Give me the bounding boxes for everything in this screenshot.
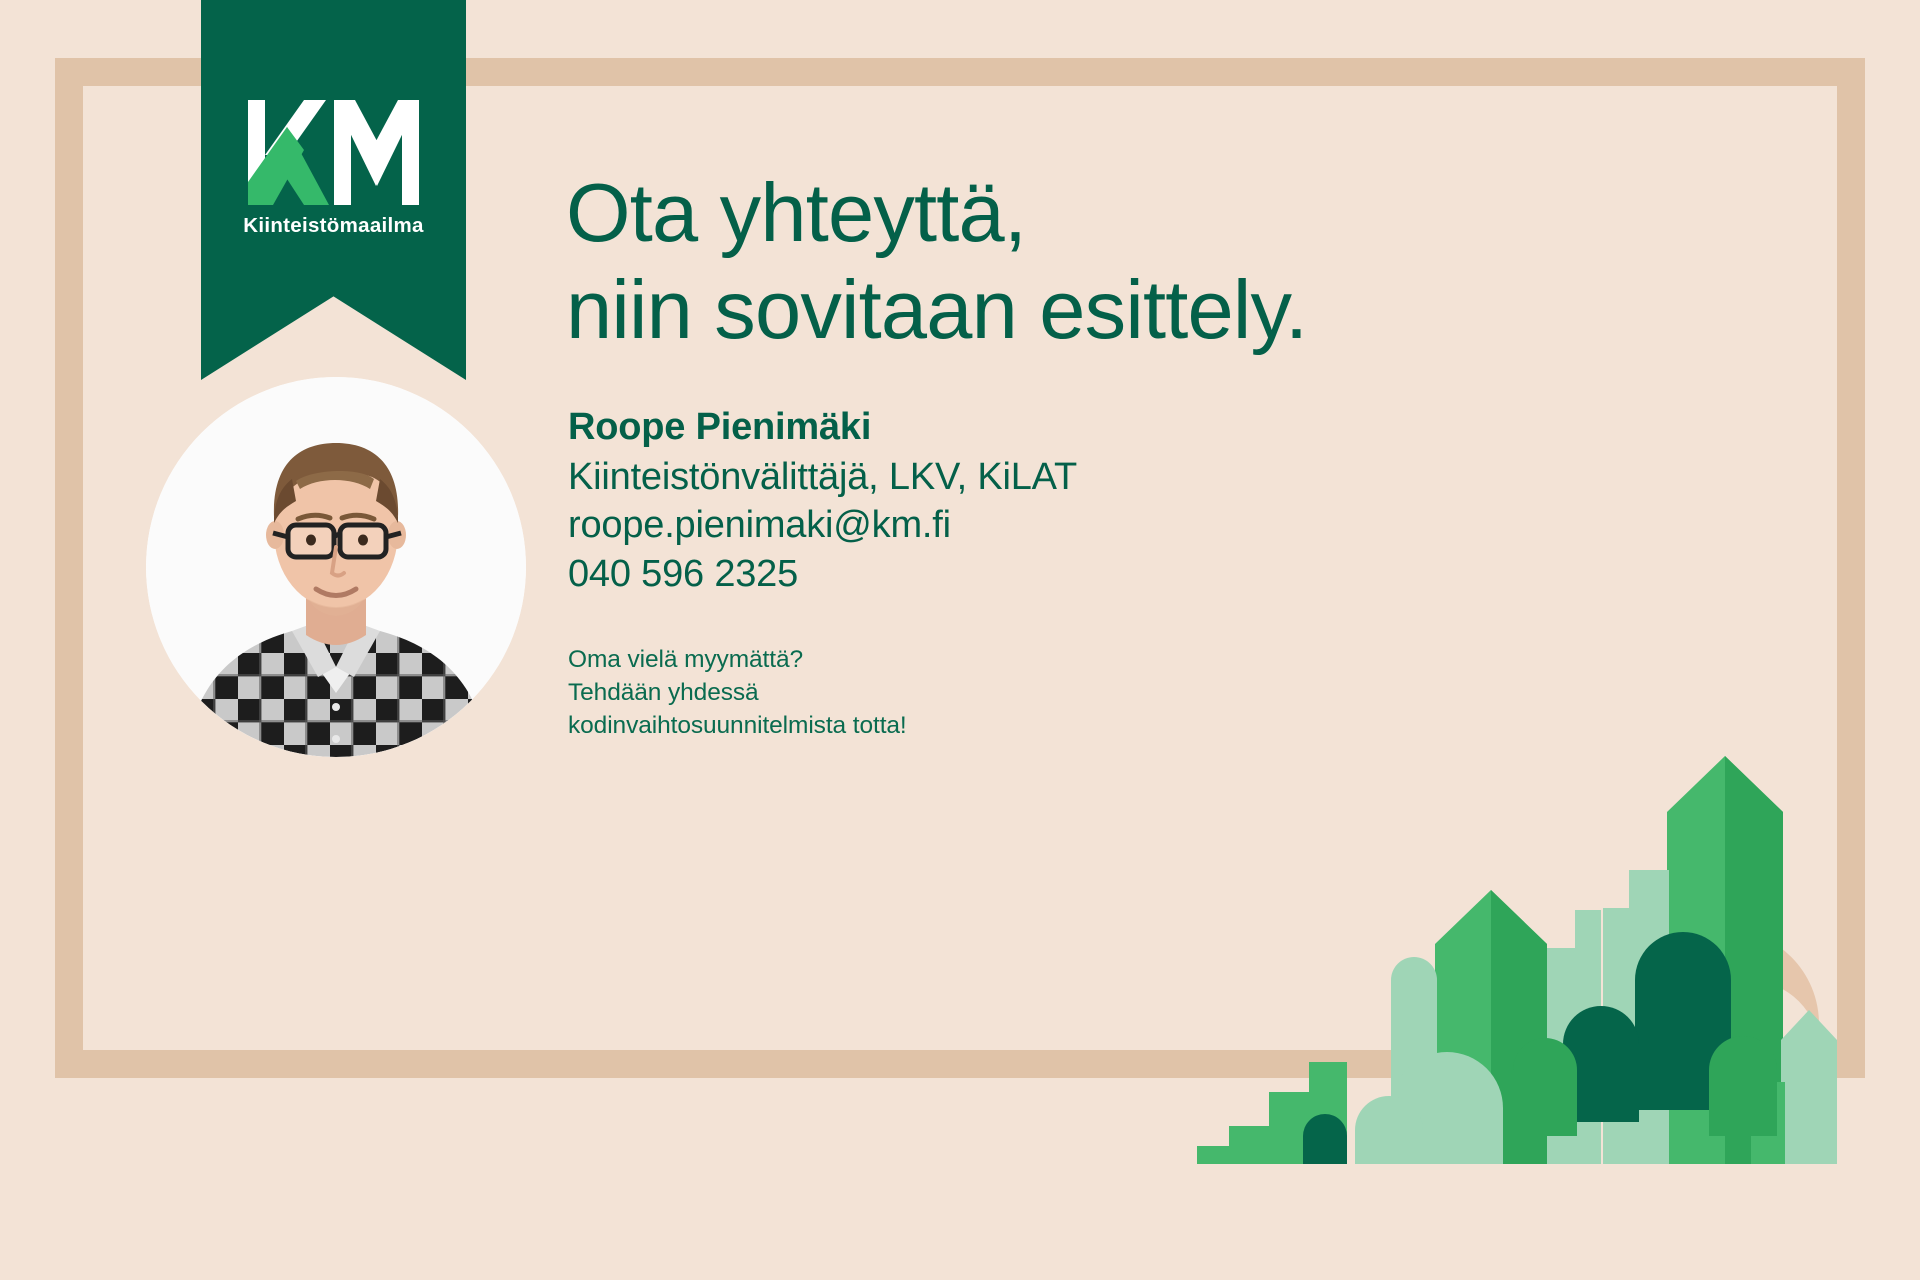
agent-phone[interactable]: 040 596 2325 — [568, 550, 1077, 598]
agent-portrait-image — [146, 377, 526, 757]
tagline-block: Oma vielä myymättä? Tehdään yhdessä kodi… — [568, 644, 907, 742]
headline-line-2: niin sovitaan esittely. — [566, 261, 1307, 358]
agent-name: Roope Pienimäki — [568, 404, 1077, 451]
tagline-line-2: Tehdään yhdessä — [568, 677, 907, 710]
tagline-line-1: Oma vielä myymättä? — [568, 644, 907, 677]
km-monogram-icon — [246, 100, 421, 205]
agent-title: Kiinteistönvälittäjä, LKV, KiLAT — [568, 453, 1077, 501]
avatar — [146, 377, 526, 757]
tagline-line-3: kodinvaihtosuunnitelmista totta! — [568, 710, 907, 743]
contact-card: Kiinteistömaailma Ota yhteyttä, niin sov… — [0, 0, 1920, 1280]
illustration-graphic — [1197, 694, 1837, 1194]
agent-contact-block: Roope Pienimäki Kiinteistönvälittäjä, LK… — [568, 404, 1077, 598]
headline: Ota yhteyttä, niin sovitaan esittely. — [566, 164, 1307, 358]
headline-line-1: Ota yhteyttä, — [566, 164, 1307, 261]
agent-email[interactable]: roope.pienimaki@km.fi — [568, 501, 1077, 549]
green-houses-and-trees-illustration — [1197, 694, 1837, 1194]
brand-logo: Kiinteistömaailma — [201, 0, 466, 300]
brand-wordmark: Kiinteistömaailma — [243, 214, 424, 238]
